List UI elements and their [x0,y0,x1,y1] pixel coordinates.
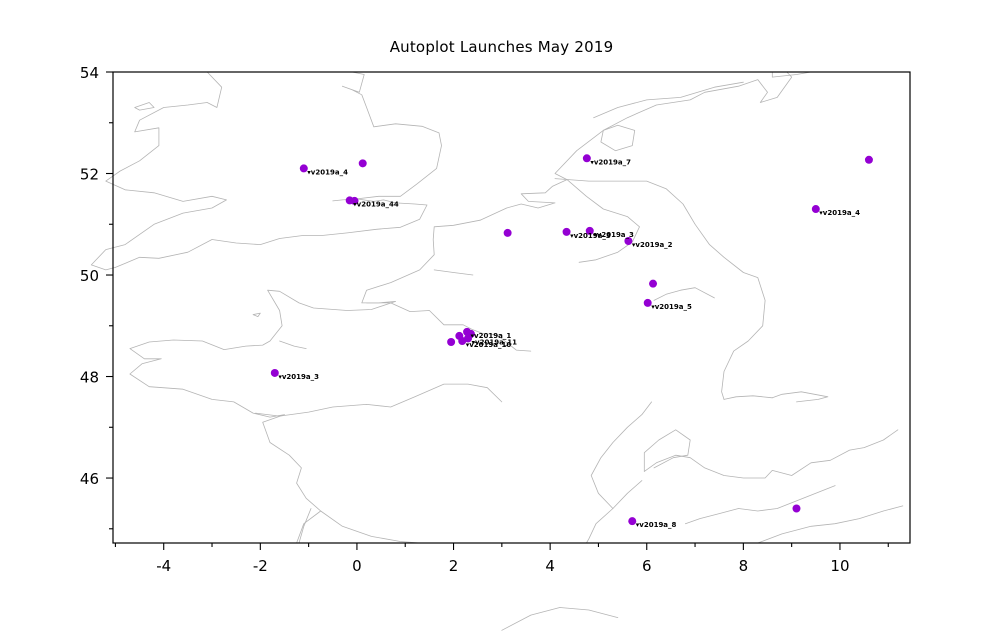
x-tick-label: 6 [642,557,652,575]
coastline-path [654,288,714,301]
x-tick-label: 0 [352,557,362,575]
scatter-map-plot: ▾v2019a_4▾v2019a_44▾v2019a_3▾v2019a_7▾v2… [0,0,1003,633]
data-point-label: ▾v2019a_8 [636,521,677,529]
axis-ticks [106,72,888,550]
coastline-path [256,384,502,416]
coastline-path [758,506,903,543]
plot-frame [113,72,910,543]
data-point-label: ▾v2019a_3 [593,231,634,239]
y-tick-label: 54 [80,64,99,82]
figure-canvas: Autoplot Launches May 2019 ▾v2019a_4▾v20… [0,0,1003,633]
coastline-path [644,430,690,472]
x-tick-label: -2 [253,557,268,575]
point-label-layer: ▾v2019a_4▾v2019a_44▾v2019a_3▾v2019a_7▾v2… [278,158,860,529]
data-point-label: ▾v2019a_7 [590,158,631,166]
coastline-path [91,72,226,270]
coastline-path [644,430,898,478]
coastline-path [685,486,835,524]
data-point-label: ▾v2019a_3 [278,373,319,381]
y-tick-label: 46 [80,470,99,488]
marker-layer [271,154,873,525]
y-tick-label: 52 [80,166,99,184]
data-point-label: ▾v2019a_2 [632,241,673,249]
data-point-label: ▾v2019a_5 [651,303,692,311]
x-tick-label: 10 [830,557,849,575]
data-point-marker [865,156,873,164]
coastline-path [434,270,473,275]
coastline-path [772,72,811,77]
coastline-path [594,82,744,118]
coastline-path [502,608,618,631]
coastline-path [253,313,260,317]
data-point-label: ▾v2019a_4 [819,209,860,217]
coastline-path [480,72,792,220]
coastline-path [280,341,307,349]
data-point-marker [447,338,455,346]
x-tick-label: 2 [449,557,459,575]
y-tick-label: 50 [80,267,99,285]
coastline-path [299,509,311,544]
data-point-label: ▾v2019a_44 [353,200,399,208]
y-tick-label: 48 [80,369,99,387]
coastline-path [115,72,441,267]
coastline-path [130,220,480,543]
x-tick-label: 8 [739,557,749,575]
coastline-path [321,511,420,543]
data-point-marker [649,280,657,288]
coastline-path [724,396,772,400]
coastline-path [555,179,765,400]
coastline-path [135,103,154,111]
coastline-path [591,402,651,509]
axis-tick-labels: -4-202468104648505254 [80,64,850,575]
coastline-path [586,481,642,543]
data-point-label: ▾v2019a_4 [307,168,348,176]
coastline-path [601,125,635,150]
data-point-label: ▾v2019a_10 [466,341,512,349]
coastline-layer [91,72,903,630]
x-tick-label: -4 [156,557,171,575]
coastline-path [567,180,640,263]
data-point-marker [504,229,512,237]
x-tick-label: 4 [545,557,555,575]
data-point-marker [792,504,800,512]
coastline-path [772,392,828,402]
data-point-marker [359,159,367,167]
